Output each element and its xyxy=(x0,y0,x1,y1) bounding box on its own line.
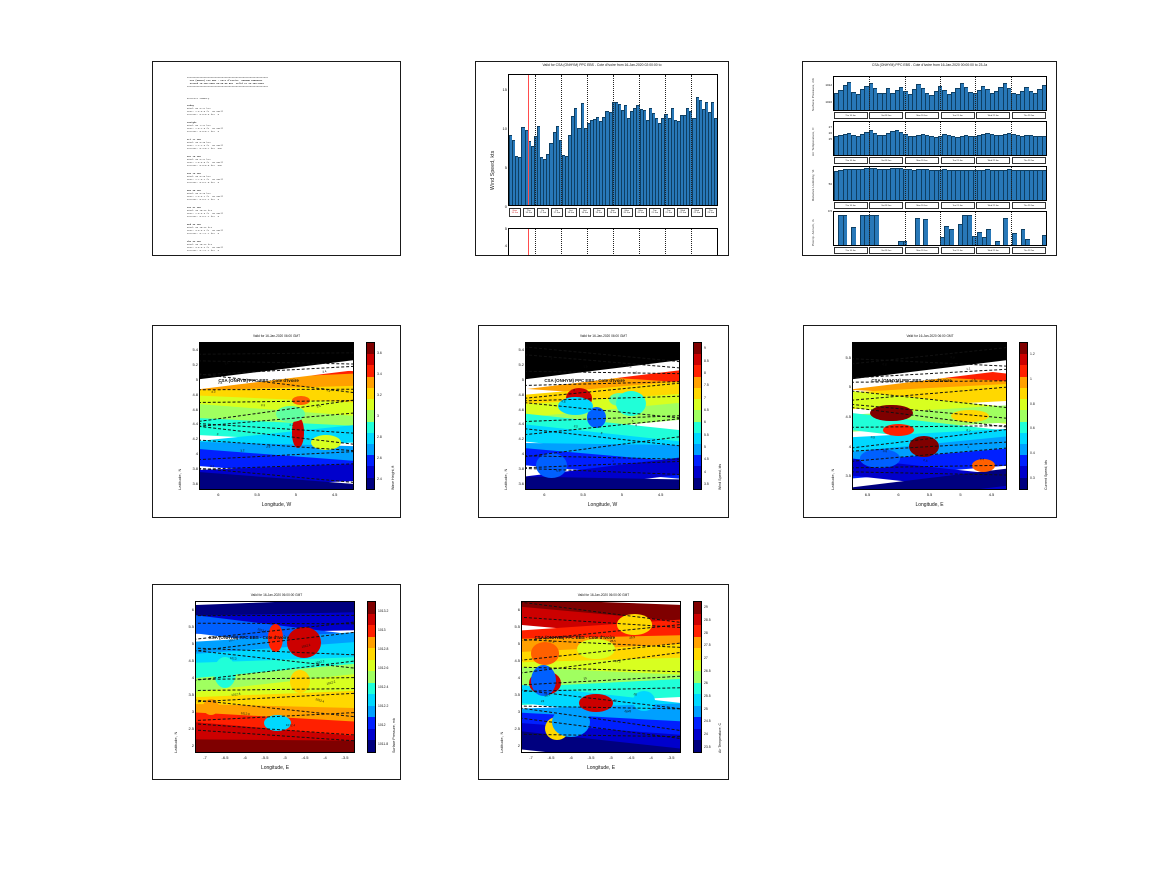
gridline-day xyxy=(587,229,588,256)
colorbar-swatch xyxy=(1020,388,1027,399)
contour-label: 7.5 xyxy=(583,364,588,369)
x-tick-label: 4.5 xyxy=(329,492,341,497)
contour-label: 4 xyxy=(612,459,614,463)
bar xyxy=(1012,233,1017,245)
gridline-day xyxy=(869,122,870,155)
day-box: Sat 18 Jan xyxy=(869,202,903,209)
day-box-line: 21 Jan xyxy=(664,212,674,214)
x-tick-label: -5.5 xyxy=(259,755,271,760)
colorbar-swatch xyxy=(367,422,374,433)
report-block: Wed 22 JanWind: SW 10-14 ktsSeas: 3.0-3.… xyxy=(187,223,390,235)
panel-wind-wave-timeseries: Valid for CSA (ONHYM) PPC EBS - Cote d'I… xyxy=(475,61,729,256)
axes-wind-speed xyxy=(508,74,718,206)
panel-current-speed-map: Valid for 16-Jan-2020 06:00 GMT0.50.60.7… xyxy=(803,325,1057,518)
colorbar-swatch xyxy=(368,602,375,614)
colorbar-tick-label: 28 xyxy=(704,631,708,635)
x-tick-label: -7 xyxy=(525,755,537,760)
colorbar-tick-label: 3.5 xyxy=(704,482,709,486)
x-tick-label: -5.5 xyxy=(585,755,597,760)
x-tick-label: 6 xyxy=(538,492,550,497)
colorbar-tick-label: 0.6 xyxy=(1030,426,1035,430)
colorbar-swatch xyxy=(694,614,701,626)
y-tick-label: 5 xyxy=(839,384,851,389)
day-box: Thu 23 Jan xyxy=(1012,202,1046,209)
colorbar-swatch xyxy=(694,729,701,741)
colorbar-label: Surface Pressure, mb xyxy=(392,718,396,753)
colorbar-swatch xyxy=(368,717,375,729)
colorbar-swatch xyxy=(694,671,701,683)
y-tick-label: 2.5 xyxy=(182,726,194,731)
y-tick-label: 1012 xyxy=(819,83,832,87)
day-box: Wed 22 Jan xyxy=(976,112,1010,119)
y-tick-label: 4 xyxy=(839,444,851,449)
day-box-line: 16 Jan xyxy=(510,212,520,214)
colorbar xyxy=(693,601,702,753)
day-box: Thu 16 Jan xyxy=(834,157,868,164)
y-tick-label: 4.4 xyxy=(512,421,524,426)
y-tick-label: 3.6 xyxy=(186,481,198,486)
x-tick-label: -4.5 xyxy=(299,755,311,760)
x-tick-label: 5 xyxy=(616,492,628,497)
x-tick-label: 5 xyxy=(955,492,967,497)
chart-title: Valid for 16-Jan-2020 06:00 GMT xyxy=(804,334,1056,338)
colorbar-swatch xyxy=(368,706,375,718)
panel-met-timeseries: CSA (ONHYM) PPC EBS - Cote d'Ivoire from… xyxy=(802,61,1057,256)
colorbar-label: Current Speed, kts xyxy=(1044,460,1048,490)
colorbar-swatch xyxy=(367,377,374,388)
report-block-line: Current: 0.6-1.1 kts E xyxy=(187,198,390,201)
day-box: Thu23 Jan xyxy=(705,208,717,217)
report-page: ========================================… xyxy=(0,0,1167,875)
contour-label: 0.6 xyxy=(882,362,887,367)
colorbar-swatch xyxy=(694,648,701,660)
y-tick-label: 4.8 xyxy=(512,392,524,397)
day-box-line: 20 Jan xyxy=(622,212,632,214)
day-box: Wed22 Jan xyxy=(677,208,689,217)
y-tick-label: 3.5 xyxy=(182,692,194,697)
x-tick-label: -4 xyxy=(645,755,657,760)
colorbar-tick-label: 25 xyxy=(704,707,708,711)
gridline-day xyxy=(940,212,941,245)
day-box: Sat 18 Jan xyxy=(869,247,903,254)
x-tick-label: 5 xyxy=(290,492,302,497)
gridline-day xyxy=(613,75,614,205)
x-tick-label: 5.5 xyxy=(924,492,936,497)
colorbar-swatch xyxy=(1020,455,1027,466)
chart-title: Valid for 16-Jan-2020 06:00 GMT xyxy=(479,334,728,338)
bar xyxy=(915,218,920,245)
figure-wind-wave: Valid for CSA (ONHYM) PPC EBS - Cote d'I… xyxy=(476,62,728,255)
day-box: Fri17 Jan xyxy=(537,208,549,217)
colorbar-swatch xyxy=(368,660,375,672)
report-block-line: Current: 0.5-0.8 kts E xyxy=(187,113,390,116)
chart-title: Valid for 16-Jan-2020 06:00:00 GMT xyxy=(479,593,728,597)
bar xyxy=(714,118,717,205)
colorbar-swatch xyxy=(694,683,701,695)
x-tick-label: 6 xyxy=(893,492,905,497)
colorbar-tick-label: 29 xyxy=(704,605,708,609)
y-tick-label: 3.8 xyxy=(186,466,198,471)
axes-air-temperature-c xyxy=(833,121,1047,156)
gridline-day xyxy=(975,212,976,245)
axes-precip-accum-in xyxy=(833,211,1047,246)
day-box: Mon 20 Jan xyxy=(905,157,939,164)
report-block-line: Current: 0.6-1.1 kts E xyxy=(187,215,390,218)
x-tick-label: -5 xyxy=(605,755,617,760)
colorbar-swatch xyxy=(694,365,701,376)
colorbar xyxy=(1019,342,1028,490)
contour-label: 3.1 xyxy=(210,464,214,468)
colorbar-tick-label: 8 xyxy=(704,371,706,375)
gridline-day xyxy=(869,167,870,200)
bar xyxy=(874,215,879,245)
day-box: Tue 21 Jan xyxy=(941,202,975,209)
colorbar-swatch xyxy=(694,694,701,706)
x-tick-label: -6.5 xyxy=(219,755,231,760)
report-body: ========================================… xyxy=(153,62,400,255)
map-plot-area: 0.50.60.70.80.911.10.80.60.50.4CSA (ONHY… xyxy=(852,342,1007,490)
y-tick-label: 4 xyxy=(186,451,198,456)
contour-label: 1012.6 xyxy=(240,711,250,716)
colorbar-swatch xyxy=(694,377,701,388)
y-tick-label: 4.5 xyxy=(508,658,520,663)
bar xyxy=(995,241,1000,245)
day-box: Thu 23 Jan xyxy=(1012,157,1046,164)
day-box-line: 22 Jan xyxy=(692,212,702,214)
contour-label: 2.9 xyxy=(266,445,271,449)
color-band xyxy=(525,476,680,490)
day-box-line: 19 Jan xyxy=(608,212,618,214)
colorbar-swatch xyxy=(694,343,701,354)
day-box: Sat18 Jan xyxy=(579,208,591,217)
day-box-line: 18 Jan xyxy=(580,212,590,214)
x-tick-label: 4.5 xyxy=(655,492,667,497)
bar xyxy=(1042,170,1046,200)
color-blob xyxy=(531,642,559,664)
day-box: Sat 18 Jan xyxy=(869,112,903,119)
colorbar-swatch xyxy=(1020,433,1027,444)
day-box: Wed 22 Jan xyxy=(976,202,1010,209)
y-tick-label: 5 xyxy=(182,641,194,646)
colorbar-swatch xyxy=(368,625,375,637)
y-tick-label: 0 xyxy=(498,204,507,209)
colorbar-tick-label: 2.4 xyxy=(377,477,382,481)
colorbar-tick-label: 1011.8 xyxy=(378,742,388,746)
colorbar-swatch xyxy=(694,455,701,466)
day-box: Tue21 Jan xyxy=(663,208,675,217)
contour-label: 6.5 xyxy=(633,371,637,375)
colorbar-label: Air Temperature, C xyxy=(718,723,722,753)
day-box: Thu 16 Jan xyxy=(834,247,868,254)
y-tick-label: 4.2 xyxy=(512,436,524,441)
gridline-day xyxy=(561,229,562,256)
y-tick-label: 4 xyxy=(512,451,524,456)
y-tick-label: 4 xyxy=(508,675,520,680)
contour-label: 1012.4 xyxy=(286,723,295,727)
figure-met: CSA (ONHYM) PPC EBS - Cote d'Ivoire from… xyxy=(803,62,1056,255)
gridline-day xyxy=(940,122,941,155)
day-box: Mon20 Jan xyxy=(635,208,647,217)
day-box: Sat 18 Jan xyxy=(869,157,903,164)
colorbar-swatch xyxy=(694,422,701,433)
axis-label-0: Surface Pressure, mb xyxy=(811,78,815,111)
y-tick-label: 4 xyxy=(498,243,507,248)
panel-wind-speed-map: Valid for 16-Jan-2020 06:00 GMT3.5455.56… xyxy=(478,325,729,518)
colorbar-swatch xyxy=(694,602,701,614)
panel-air-temperature-map: Valid for 16-Jan-2020 06:00:00 GMT2424.5… xyxy=(478,584,729,780)
colorbar-tick-label: 5.5 xyxy=(704,433,709,437)
axis-label-x: Longitude, E xyxy=(852,502,1007,508)
gridline-day xyxy=(975,122,976,155)
colorbar-tick-label: 26.5 xyxy=(704,669,711,673)
y-tick-label: 6 xyxy=(182,607,194,612)
chart-title-met: CSA (ONHYM) PPC EBS - Cote d'Ivoire from… xyxy=(803,63,1056,67)
colorbar xyxy=(693,342,702,490)
colorbar-swatch xyxy=(1020,343,1027,354)
day-box: Thu 16 Jan xyxy=(834,112,868,119)
day-box: Sun19 Jan xyxy=(593,208,605,217)
day-box-line: 17 Jan xyxy=(552,212,562,214)
y-tick-label: 3.5 xyxy=(508,692,520,697)
day-box: Tue 21 Jan xyxy=(941,247,975,254)
gridline-day xyxy=(691,229,692,256)
site-label: CSA (ONHYM) PPC EBS - Cote d'Ivoire xyxy=(218,378,298,383)
contour-label: 0.8 xyxy=(883,449,887,453)
colorbar-tick-label: 24 xyxy=(704,732,708,736)
y-tick-label: 6 xyxy=(508,607,520,612)
report-block-line: Current: 0.7-1.2 kts E xyxy=(187,232,390,235)
colorbar-tick-label: 27.5 xyxy=(704,643,711,647)
colorbar-swatch xyxy=(367,410,374,421)
y-tick-label: 5 xyxy=(508,641,520,646)
colorbar-swatch xyxy=(367,478,374,489)
axis-label-x: Longitude, E xyxy=(195,765,355,771)
figure-wave-height-map: Valid for 16-Jan-2020 06:00 GMT2.833.13.… xyxy=(153,326,400,517)
y-tick-label: 3.6 xyxy=(512,481,524,486)
now-marker-wave xyxy=(528,229,530,256)
gridline-day xyxy=(665,229,666,256)
colorbar-tick-label: 2.8 xyxy=(377,435,382,439)
x-tick-label: 5.5 xyxy=(251,492,263,497)
colorbar-label: Wave Height, ft xyxy=(391,466,395,490)
y-tick-label: 5.5 xyxy=(839,355,851,360)
color-band xyxy=(195,740,355,753)
report-header: ========================================… xyxy=(187,76,390,88)
contour-label: 3 xyxy=(217,432,219,436)
contour-label: 0.4 xyxy=(980,457,985,461)
y-tick-label: 5.4 xyxy=(186,347,198,352)
colorbar-swatch xyxy=(367,433,374,444)
colorbar xyxy=(367,601,376,753)
day-box-line: 20 Jan xyxy=(636,212,646,214)
gridline-day xyxy=(905,77,906,110)
colorbar-tick-label: 25.5 xyxy=(704,694,711,698)
y-tick-label: 3.5 xyxy=(839,473,851,478)
gridline-day xyxy=(1011,167,1012,200)
colorbar-tick-label: 7 xyxy=(704,396,706,400)
colorbar-tick-label: 0.8 xyxy=(1030,402,1035,406)
report-block: TonightWind: NE 7-11 ktsSeas: 2.5-2.9 ft… xyxy=(187,121,390,133)
day-box: Mon 20 Jan xyxy=(905,202,939,209)
y-tick-label: 2 xyxy=(182,743,194,748)
day-box-line: 21 Jan xyxy=(650,212,660,214)
colorbar-swatch xyxy=(694,740,701,752)
day-box: Now16 Jan xyxy=(509,208,521,217)
panel-wave-height-map: Valid for 16-Jan-2020 06:00 GMT2.833.13.… xyxy=(152,325,401,518)
y-tick-label: 3.8 xyxy=(512,466,524,471)
day-box: Thu16 Jan xyxy=(523,208,535,217)
y-tick-label: 1010 xyxy=(819,100,832,104)
colorbar-tick-label: 3.2 xyxy=(377,393,382,397)
colorbar-swatch xyxy=(694,717,701,729)
x-tick-label: 6.5 xyxy=(862,492,874,497)
report-block: Sat 18 JanWind: SW 8-12 ktsSeas: 2.5-3.0… xyxy=(187,155,390,167)
gridline-day xyxy=(869,77,870,110)
colorbar-tick-label: 4.5 xyxy=(704,457,709,461)
day-box: Sun19 Jan xyxy=(607,208,619,217)
day-box: Wed 22 Jan xyxy=(976,157,1010,164)
axis-label-x: Longitude, W xyxy=(525,502,680,508)
y-tick-label: 50 xyxy=(819,182,832,186)
y-tick-label: 5.2 xyxy=(186,362,198,367)
y-tick-label: 5 xyxy=(186,377,198,382)
axis-label-x: Longitude, W xyxy=(199,502,354,508)
report-block-line: Current: 0.4-0.7 kts ESE xyxy=(187,147,390,150)
gridline-day xyxy=(639,75,640,205)
colorbar-swatch xyxy=(368,729,375,741)
gridline-day xyxy=(975,77,976,110)
bar xyxy=(851,227,856,245)
y-tick-label: 4.2 xyxy=(186,436,198,441)
gridline-day xyxy=(905,167,906,200)
gridline-day xyxy=(613,229,614,256)
colorbar-swatch xyxy=(1020,422,1027,433)
colorbar-tick-label: 1 xyxy=(1030,377,1032,381)
axis-label-y: Latitude, N xyxy=(499,731,504,753)
gridline-day xyxy=(1011,122,1012,155)
gridline-day xyxy=(691,75,692,205)
day-box: Mon 20 Jan xyxy=(905,112,939,119)
chart-title: Valid for CSA (ONHYM) PPC EBS - Cote d'I… xyxy=(476,63,728,67)
chart-title: Valid for 16-Jan-2020 06:00:00 GMT xyxy=(153,593,400,597)
x-tick-label: -3.5 xyxy=(339,755,351,760)
report-block: Tue 21 JanWind: SW 10-14 ktsSeas: 2.9-3.… xyxy=(187,206,390,218)
bar xyxy=(949,229,954,245)
x-tick-label: -4 xyxy=(319,755,331,760)
colorbar-swatch xyxy=(1020,410,1027,421)
chart-title: Valid for 16-Jan-2020 06:00 GMT xyxy=(153,334,400,338)
colorbar-label: Wind Speed, kts xyxy=(718,464,722,490)
colorbar-swatch xyxy=(1020,466,1027,477)
colorbar-swatch xyxy=(694,478,701,489)
y-tick-label: 15 xyxy=(498,87,507,92)
axis-label-2: Relative Humidity, % xyxy=(811,170,815,201)
colorbar-swatch xyxy=(694,410,701,421)
colorbar-swatch xyxy=(1020,478,1027,489)
axis-label-y: Latitude, N xyxy=(177,468,182,490)
y-tick-label: 26 xyxy=(819,131,832,135)
y-tick-label: 5 xyxy=(498,226,507,231)
site-label: CSA (ONHYM) PPC EBS - Cote d'Ivoire xyxy=(209,635,289,640)
gridline-day xyxy=(665,75,666,205)
gridline-day xyxy=(535,75,536,205)
x-tick-label: -7 xyxy=(199,755,211,760)
y-tick-label: 2.5 xyxy=(508,726,520,731)
axis-label-y: Latitude, N xyxy=(830,468,835,490)
bar xyxy=(1025,239,1030,245)
map-plot-area: 2424.52525.52626.52727.52828.528.52828CS… xyxy=(521,601,681,753)
day-box: Tue21 Jan xyxy=(649,208,661,217)
axis-label-y: Latitude, N xyxy=(503,468,508,490)
x-tick-label: -6 xyxy=(565,755,577,760)
day-box-line: 22 Jan xyxy=(678,212,688,214)
panel-surface-pressure-map: Valid for 16-Jan-2020 06:00:00 GMT1012.2… xyxy=(152,584,401,780)
colorbar-tick-label: 8.5 xyxy=(704,359,709,363)
day-box: Thu 23 Jan xyxy=(1012,247,1046,254)
y-tick-label: 25 xyxy=(819,137,832,141)
y-tick-label: 4.6 xyxy=(186,407,198,412)
day-box: Tue 21 Jan xyxy=(941,157,975,164)
colorbar-tick-label: 1013 xyxy=(378,628,386,632)
day-box: Mon 20 Jan xyxy=(905,247,939,254)
x-tick-label: 4.5 xyxy=(986,492,998,497)
colorbar-tick-label: 28.5 xyxy=(704,618,711,622)
colorbar-swatch xyxy=(694,433,701,444)
gridline-day xyxy=(940,77,941,110)
map-plot-area: 3.5455.566.577.586.57.58CSA (ONHYM) PPC … xyxy=(525,342,680,490)
x-tick-label: -6 xyxy=(239,755,251,760)
colorbar-swatch xyxy=(1020,354,1027,365)
colorbar-tick-label: 3.6 xyxy=(377,351,382,355)
contour-label: 5 xyxy=(631,419,633,423)
y-tick-label: 5.2 xyxy=(512,362,524,367)
y-tick-label: 5 xyxy=(512,377,524,382)
colorbar-swatch xyxy=(368,683,375,695)
colorbar-swatch xyxy=(367,399,374,410)
report-block-line: Current: 0.7-1.2 kts E xyxy=(187,249,390,252)
day-box-line: 18 Jan xyxy=(566,212,576,214)
gridline-day xyxy=(1011,212,1012,245)
day-box-line: 17 Jan xyxy=(538,212,548,214)
y-tick-label: 4.8 xyxy=(186,392,198,397)
axis-label-1: Air Temperature, C xyxy=(811,127,815,156)
colorbar-tick-label: 2.6 xyxy=(377,456,382,460)
axes-wave-height xyxy=(508,228,718,256)
colorbar-swatch xyxy=(694,660,701,672)
report-header-line: ========================================… xyxy=(187,85,390,88)
gridline-day xyxy=(1011,77,1012,110)
colorbar-swatch xyxy=(367,455,374,466)
contour-label: 25 xyxy=(583,676,587,681)
colorbar-swatch xyxy=(694,444,701,455)
y-tick-label: 0.5 xyxy=(819,209,832,213)
colorbar-tick-label: 1.2 xyxy=(1030,352,1035,356)
day-box-line: 16 Jan xyxy=(524,212,534,214)
bar xyxy=(1042,235,1047,245)
y-tick-label: 27 xyxy=(819,125,832,129)
contour-label: 1013 xyxy=(229,656,236,661)
figure-wind-speed-map: Valid for 16-Jan-2020 06:00 GMT3.5455.56… xyxy=(479,326,728,517)
colorbar-tick-label: 4 xyxy=(704,470,706,474)
colorbar-swatch xyxy=(694,354,701,365)
bar xyxy=(986,229,991,245)
contour-label: 28 xyxy=(627,709,631,713)
colorbar-tick-label: 27 xyxy=(704,656,708,660)
gridline-day xyxy=(535,229,536,256)
colorbar-swatch xyxy=(367,354,374,365)
colorbar-tick-label: 3.4 xyxy=(377,372,382,376)
colorbar-tick-label: 26 xyxy=(704,681,708,685)
